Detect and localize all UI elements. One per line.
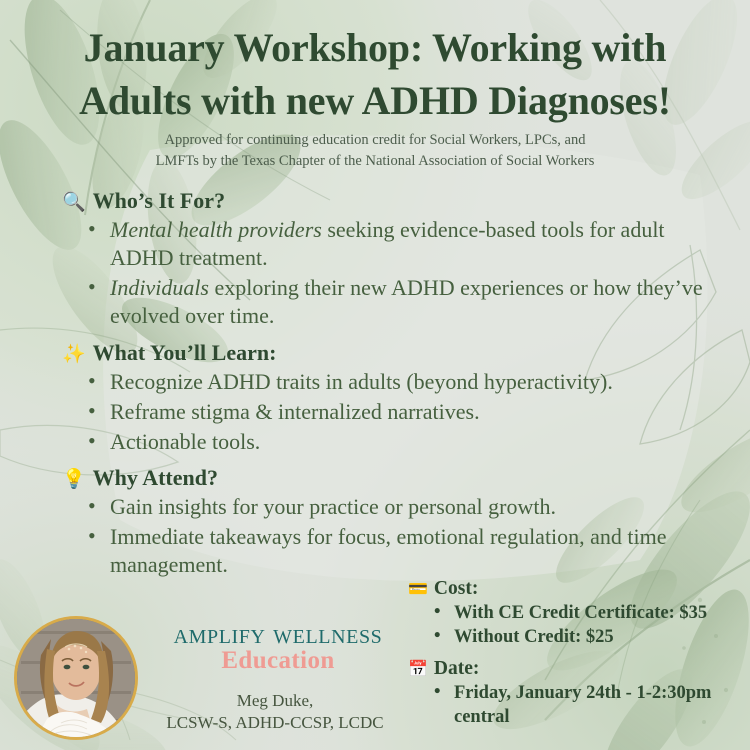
sparkles-icon: ✨ [62,345,86,364]
list-item: With CE Credit Certificate: $35 [432,601,750,625]
list-item: Actionable tools. [84,428,722,456]
cost-heading-label: Cost: [434,578,478,600]
details-block: 💳 Cost: With CE Credit Certificate: $35 … [408,578,750,738]
list-item: Recognize ADHD traits in adults (beyond … [84,368,722,396]
bullet-text: Reframe stigma & internalized narratives… [110,399,480,424]
sections-list: 🔍 Who’s It For? Mental health providers … [62,188,722,589]
date-heading-label: Date: [434,658,479,680]
cost-heading: 💳 Cost: [408,578,750,600]
bullet-emphasis: Mental health providers [110,217,322,242]
bullet-list: Mental health providers seeking evidence… [84,216,722,331]
list-item: Individuals exploring their new ADHD exp… [84,274,722,330]
brand-lockup: Amplify Wellness Education [128,620,428,676]
section-why-attend: 💡 Why Attend? Gain insights for your pra… [62,465,722,579]
date-group: 📅 Date: Friday, January 24th - 1-2:30pm … [408,658,750,730]
credit-card-icon: 💳 [408,582,428,598]
list-item: Gain insights for your practice or perso… [84,493,722,521]
list-item: Reframe stigma & internalized narratives… [84,398,722,426]
section-heading: 💡 Why Attend? [62,465,722,491]
cost-group: 💳 Cost: With CE Credit Certificate: $35 … [408,578,750,650]
section-heading: ✨ What You’ll Learn: [62,340,722,366]
presenter-headshot [17,619,135,737]
cost-list: With CE Credit Certificate: $35 Without … [432,601,750,650]
bullet-text: Gain insights for your practice or perso… [110,494,556,519]
section-heading-label: What You’ll Learn: [93,340,277,366]
bullet-list: Recognize ADHD traits in adults (beyond … [84,368,722,456]
list-item: Immediate takeaways for focus, emotional… [84,523,722,579]
section-heading-label: Why Attend? [93,465,218,491]
flyer-title: January Workshop: Working with Adults wi… [0,22,750,128]
title-line-2: Adults with new ADHD Diagnoses! [0,75,750,128]
section-heading-label: Who’s It For? [93,188,225,214]
list-item: Mental health providers seeking evidence… [84,216,722,272]
title-line-1: January Workshop: Working with [0,22,750,75]
section-what-youll-learn: ✨ What You’ll Learn: Recognize ADHD trai… [62,340,722,456]
presenter-credentials: LCSW-S, ADHD-CCSP, LCDC [120,712,430,734]
section-heading: 🔍 Who’s It For? [62,188,722,214]
bullet-emphasis: Individuals [110,275,209,300]
brand-subname: Education [128,647,428,676]
bullet-text: Recognize ADHD traits in adults (beyond … [110,369,613,394]
section-who-its-for: 🔍 Who’s It For? Mental health providers … [62,188,722,331]
date-list: Friday, January 24th - 1-2:30pm central [432,681,750,730]
list-item: Friday, January 24th - 1-2:30pm central [432,681,750,730]
presenter-name: Meg Duke, [120,690,430,712]
list-item: Without Credit: $25 [432,625,750,649]
subtitle-line-2: LMFTs by the Texas Chapter of the Nation… [0,151,750,172]
bullet-list: Gain insights for your practice or perso… [84,493,722,579]
presenter-info: Meg Duke, LCSW-S, ADHD-CCSP, LCDC [120,690,430,734]
subtitle-line-1: Approved for continuing education credit… [0,130,750,151]
workshop-flyer: January Workshop: Working with Adults wi… [0,0,750,750]
date-heading: 📅 Date: [408,658,750,680]
accreditation-subtitle: Approved for continuing education credit… [0,130,750,171]
light-bulb-icon: 💡 [62,470,86,489]
bullet-text: Immediate takeaways for focus, emotional… [110,524,667,577]
bullet-text: Actionable tools. [110,429,260,454]
magnifying-glass-icon: 🔍 [62,193,86,212]
brand-name: Amplify Wellness [128,620,428,649]
